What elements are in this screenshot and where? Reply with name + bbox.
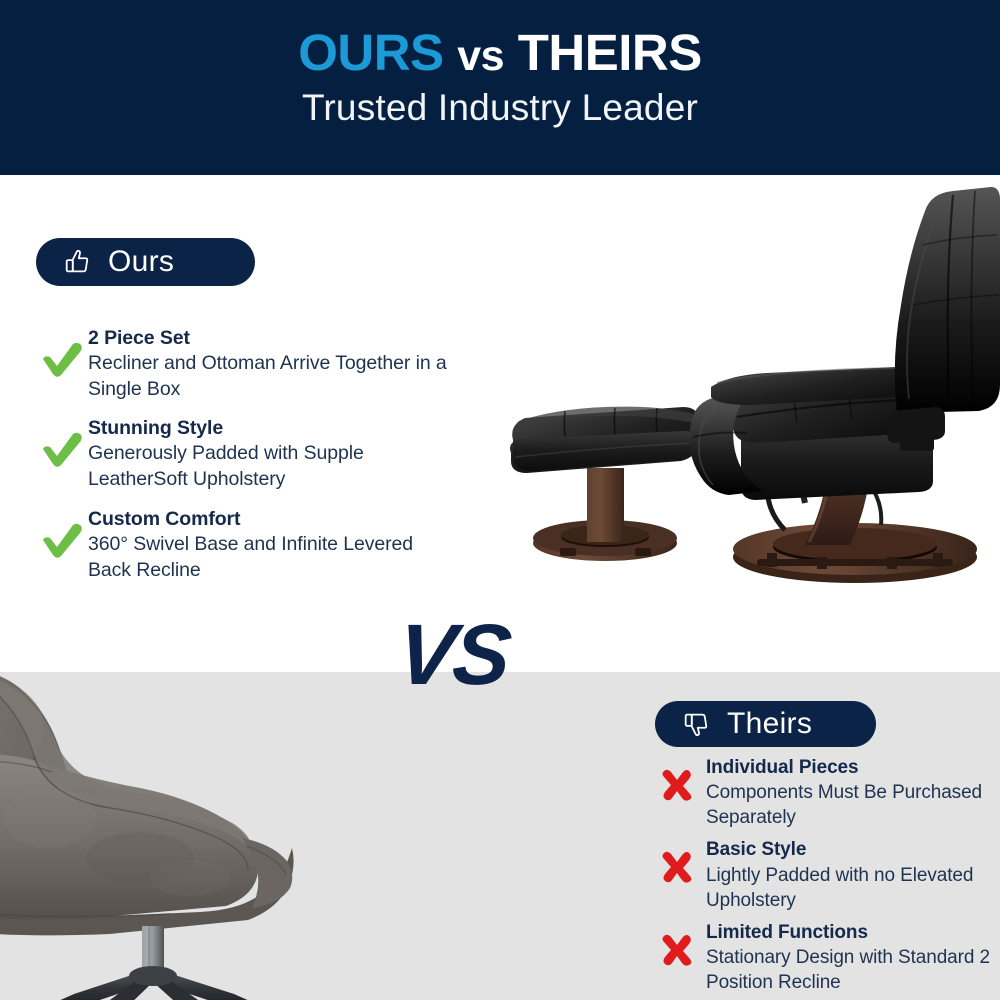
feature-desc: 360° Swivel Base and Infinite Levered Ba…	[88, 532, 456, 583]
vs-divider: VS	[393, 612, 513, 698]
recliner	[689, 187, 1000, 583]
ours-product-image	[505, 185, 1000, 585]
theirs-badge-label: Theirs	[727, 709, 812, 739]
title-theirs-word: THEIRS	[518, 24, 702, 81]
feature-desc: Components Must Be Purchased Separately	[706, 780, 1000, 830]
green-check-icon	[36, 326, 88, 378]
thumbs-down-icon	[681, 709, 711, 739]
feature-title: Custom Comfort	[88, 507, 456, 532]
feature-title: 2 Piece Set	[88, 326, 456, 351]
page-subtitle: Trusted Industry Leader	[0, 80, 1000, 129]
list-item: Stunning Style Generously Padded with Su…	[36, 416, 456, 492]
ottoman	[510, 407, 699, 561]
ours-feature-list: 2 Piece Set Recliner and Ottoman Arrive …	[36, 326, 456, 597]
green-check-icon	[36, 507, 88, 559]
theirs-badge: Theirs	[655, 701, 876, 747]
feature-title: Individual Pieces	[706, 756, 1000, 780]
feature-desc: Stationary Design with Standard 2 Positi…	[706, 945, 1000, 995]
red-x-icon	[648, 921, 706, 967]
page-title: OURS vs THEIRS	[0, 0, 1000, 80]
red-x-icon	[648, 756, 706, 802]
feature-title: Basic Style	[706, 838, 1000, 862]
title-vs-word: vs	[457, 32, 504, 80]
header-band: OURS vs THEIRS Trusted Industry Leader	[0, 0, 1000, 175]
theirs-feature-list: Individual Pieces Components Must Be Pur…	[648, 756, 1000, 1000]
feature-desc: Generously Padded with Supple LeatherSof…	[88, 441, 456, 492]
green-check-icon	[36, 416, 88, 468]
list-item: Custom Comfort 360° Swivel Base and Infi…	[36, 507, 456, 583]
list-item: Limited Functions Stationary Design with…	[648, 921, 1000, 995]
feature-desc: Recliner and Ottoman Arrive Together in …	[88, 351, 456, 402]
title-ours-word: OURS	[298, 24, 443, 81]
list-item: 2 Piece Set Recliner and Ottoman Arrive …	[36, 326, 456, 402]
list-item: Individual Pieces Components Must Be Pur…	[648, 756, 1000, 830]
comparison-infographic: OURS vs THEIRS Trusted Industry Leader	[0, 0, 1000, 1000]
thumbs-up-icon	[62, 247, 92, 277]
ours-badge-label: Ours	[108, 247, 174, 277]
ours-badge: Ours	[36, 238, 255, 286]
feature-title: Limited Functions	[706, 921, 1000, 945]
red-x-icon	[648, 838, 706, 884]
list-item: Basic Style Lightly Padded with no Eleva…	[648, 838, 1000, 912]
chair-base	[56, 966, 252, 1000]
feature-title: Stunning Style	[88, 416, 456, 441]
theirs-product-image	[0, 668, 335, 1000]
feature-desc: Lightly Padded with no Elevated Upholste…	[706, 863, 1000, 913]
